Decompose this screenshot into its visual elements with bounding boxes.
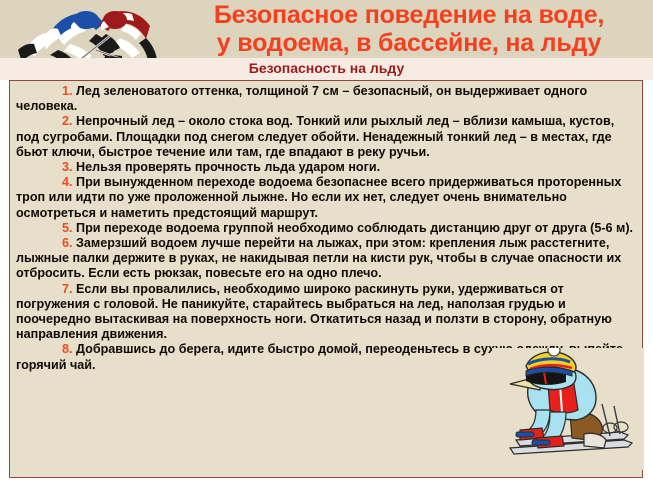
list-item: 5. При переходе водоема группой необходи… xyxy=(16,221,640,236)
header-band: Безопасное поведение на воде, у водоема,… xyxy=(0,0,653,58)
item-number: 6. xyxy=(62,236,73,250)
page-title: Безопасное поведение на воде, у водоема,… xyxy=(168,1,650,57)
item-text: При переходе водоема группой необходимо … xyxy=(76,221,633,235)
list-item: 2. Непрочный лед – около стока вод. Тонк… xyxy=(16,114,640,160)
safety-poster: Безопасное поведение на воде, у водоема,… xyxy=(0,0,653,490)
list-item: 7. Если вы провалились, необходимо широк… xyxy=(16,282,640,343)
item-text: Если вы провалились, необходимо широко р… xyxy=(16,282,612,342)
item-number: 4. xyxy=(62,175,73,189)
list-item: 4. При вынужденном переходе водоема безо… xyxy=(16,175,640,221)
list-item: 1. Лед зеленоватого оттенка, толщиной 7 … xyxy=(16,84,640,114)
item-text: Лед зеленоватого оттенка, толщиной 7 см … xyxy=(16,84,587,113)
item-text: Нельзя проверять прочность льда ударом н… xyxy=(76,160,380,174)
item-number: 3. xyxy=(62,160,73,174)
list-item: 3. Нельзя проверять прочность льда ударо… xyxy=(16,160,640,175)
safety-rules-list: 1. Лед зеленоватого оттенка, толщиной 7 … xyxy=(16,84,640,373)
hockey-players-faceoff-icon xyxy=(0,0,170,58)
item-number: 8. xyxy=(62,342,73,356)
item-number: 2. xyxy=(62,114,73,128)
item-number: 5. xyxy=(62,221,73,235)
list-item: 6. Замерзший водоем лучше перейти на лыж… xyxy=(16,236,640,282)
item-text: При вынужденном переходе водоема безопас… xyxy=(16,175,621,219)
cartoon-skier-bird-icon xyxy=(492,348,644,470)
item-number: 7. xyxy=(62,282,73,296)
item-text: Непрочный лед – около стока вод. Тонкий … xyxy=(16,114,614,158)
panel-top-rule xyxy=(9,80,643,81)
item-text: Замерзший водоем лучше перейти на лыжах,… xyxy=(16,236,621,280)
subtitle: Безопасность на льду xyxy=(0,59,653,78)
item-number: 1. xyxy=(62,84,73,98)
